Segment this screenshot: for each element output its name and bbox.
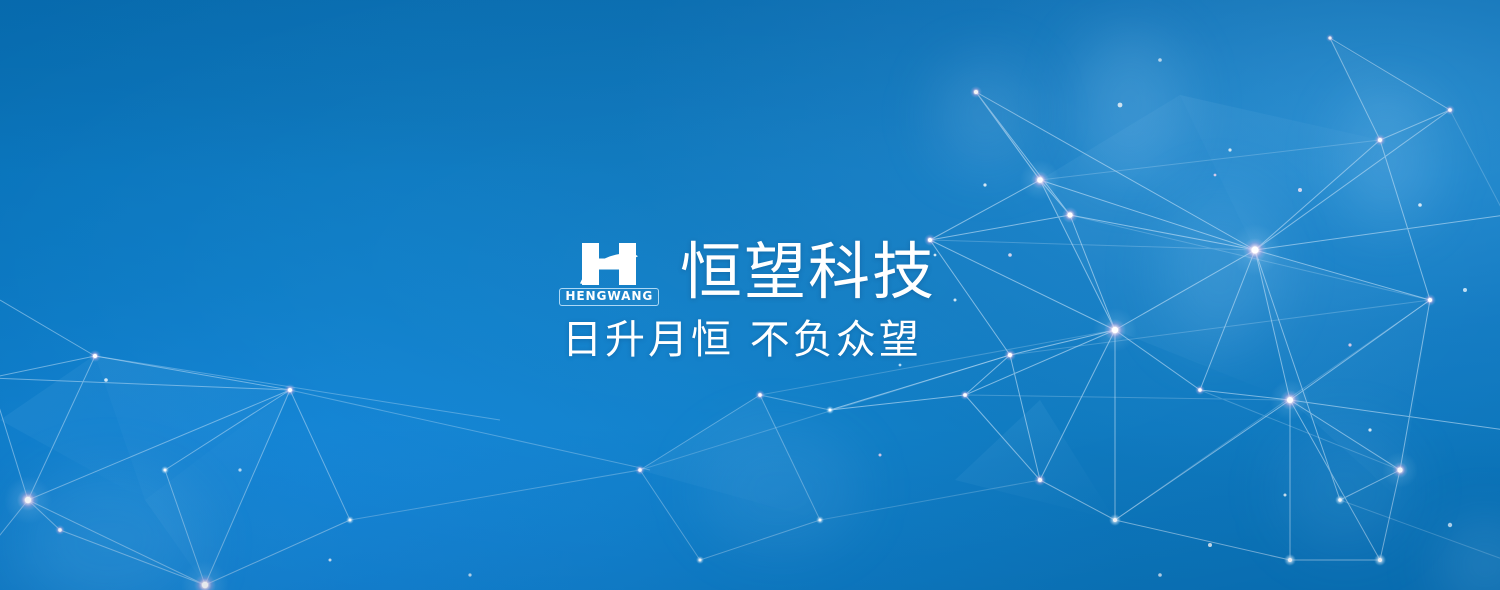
hero-banner: HENGWANG 恒望科技 日升月恒 不负众望 <box>0 0 1500 590</box>
background-vignette <box>0 0 1500 590</box>
